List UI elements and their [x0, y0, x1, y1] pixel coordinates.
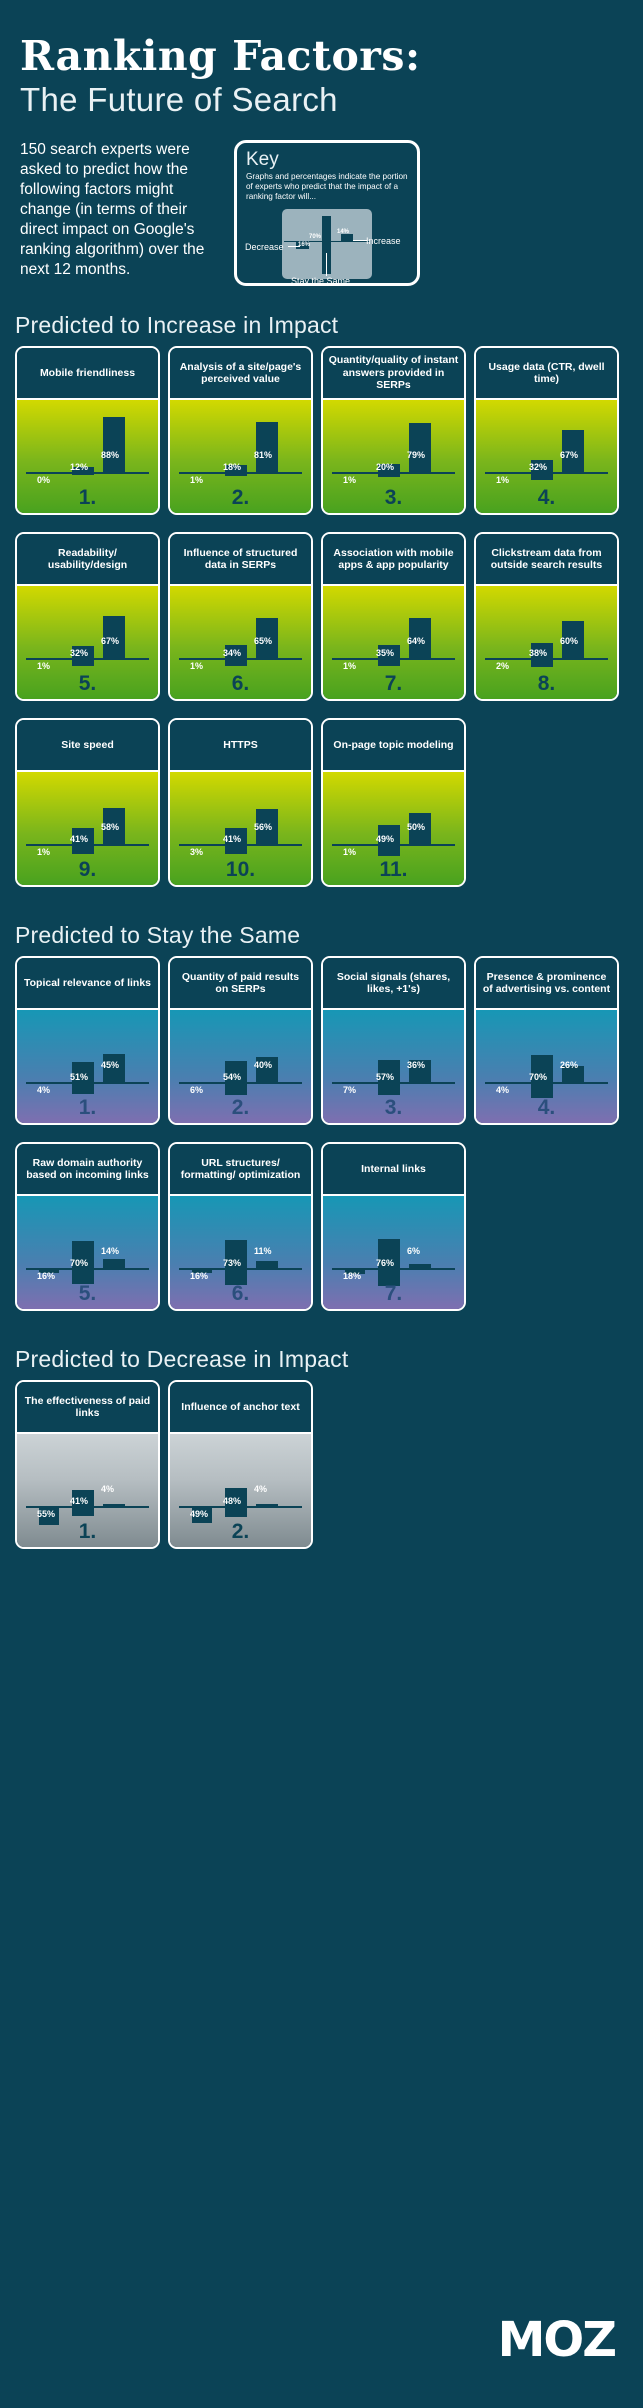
pct-same: 12%: [70, 462, 88, 472]
pct-increase: 40%: [254, 1060, 272, 1070]
pct-decrease: 0%: [37, 475, 50, 485]
pct-decrease: 6%: [190, 1085, 203, 1095]
factor-card-chart: 1%32%67%4.: [476, 398, 617, 513]
pct-increase: 81%: [254, 450, 272, 460]
pct-increase: 79%: [407, 450, 425, 460]
pct-increase: 4%: [101, 1484, 114, 1494]
pct-same: 70%: [529, 1072, 547, 1082]
header: Ranking Factors: The Future of Search 15…: [0, 0, 643, 286]
key-pct-increase: 14%: [337, 229, 349, 235]
factor-rank: 2.: [170, 486, 311, 510]
factor-card-chart: 1%49%50%11.: [323, 770, 464, 885]
pct-increase: 45%: [101, 1060, 119, 1070]
bar-decrease: [192, 472, 212, 474]
factor-rank: 5.: [17, 672, 158, 696]
factor-card-label: Site speed: [17, 720, 158, 770]
key-description: Graphs and percentages indicate the port…: [246, 172, 408, 203]
factor-card-chart: 6%54%40%2.: [170, 1008, 311, 1123]
bar-increase: [256, 1261, 278, 1268]
pct-increase: 67%: [101, 636, 119, 646]
pct-same: 32%: [70, 648, 88, 658]
key-label-decrease: Decrease: [245, 242, 284, 252]
section-heading: Predicted to Increase in Impact: [0, 312, 643, 346]
bar-increase: [409, 423, 431, 472]
infographic-page: Ranking Factors: The Future of Search 15…: [0, 0, 643, 2408]
key-label-increase: Increase: [366, 236, 401, 246]
pct-decrease: 18%: [343, 1271, 361, 1281]
factor-card-chart: 1%35%64%7.: [323, 584, 464, 699]
factor-card[interactable]: On-page topic modeling1%49%50%11.: [321, 718, 466, 887]
factor-card-chart: 16%73%11%6.: [170, 1194, 311, 1309]
factor-rank: 1.: [17, 486, 158, 510]
pct-increase: 67%: [560, 450, 578, 460]
factor-card-label: Readability/ usability/design: [17, 534, 158, 584]
pct-increase: 56%: [254, 822, 272, 832]
factor-card-label: Quantity of paid results on SERPs: [170, 958, 311, 1008]
pct-same: 41%: [223, 834, 241, 844]
section-heading: Predicted to Stay the Same: [0, 922, 643, 956]
bar-decrease: [345, 844, 365, 846]
factor-card-label: Clickstream data from outside search res…: [476, 534, 617, 584]
factor-card[interactable]: Quantity/quality of instant answers prov…: [321, 346, 466, 515]
pct-decrease: 1%: [37, 847, 50, 857]
pct-same: 57%: [376, 1072, 394, 1082]
factor-card[interactable]: Association with mobile apps & app popul…: [321, 532, 466, 701]
factor-card-chart: 2%38%60%8.: [476, 584, 617, 699]
bar-decrease: [39, 1082, 59, 1084]
pct-decrease: 1%: [343, 847, 356, 857]
bar-decrease: [192, 1082, 212, 1084]
factor-card[interactable]: Internal links18%76%6%7.: [321, 1142, 466, 1311]
factor-rank: 4.: [476, 1096, 617, 1120]
factor-card-chart: 16%70%14%5.: [17, 1194, 158, 1309]
card-grid: Topical relevance of links4%51%45%1.Quan…: [0, 956, 643, 1320]
pct-decrease: 7%: [343, 1085, 356, 1095]
pct-decrease: 1%: [496, 475, 509, 485]
pct-same: 54%: [223, 1072, 241, 1082]
factor-rank: 8.: [476, 672, 617, 696]
factor-card-label: Raw domain authority based on incoming l…: [17, 1144, 158, 1194]
pct-increase: 58%: [101, 822, 119, 832]
pct-increase: 6%: [407, 1246, 420, 1256]
factor-card-chart: 3%41%56%10.: [170, 770, 311, 885]
pct-decrease: 1%: [343, 475, 356, 485]
factor-rank: 6.: [170, 672, 311, 696]
factor-card-chart: 4%70%26%4.: [476, 1008, 617, 1123]
factor-rank: 3.: [323, 486, 464, 510]
page-subtitle: The Future of Search: [20, 80, 623, 120]
key-pct-same: 70%: [309, 234, 321, 240]
factor-card[interactable]: Raw domain authority based on incoming l…: [15, 1142, 160, 1311]
section-spacer: [0, 896, 643, 922]
factor-card-chart: 0%12%88%1.: [17, 398, 158, 513]
pct-same: 73%: [223, 1258, 241, 1268]
key-leader-line-decrease: [288, 246, 300, 247]
factor-card[interactable]: Site speed1%41%58%9.: [15, 718, 160, 887]
factor-card-label: The effectiveness of paid links: [17, 1382, 158, 1432]
factor-card-chart: 1%18%81%2.: [170, 398, 311, 513]
factor-card[interactable]: Influence of structured data in SERPs1%3…: [168, 532, 313, 701]
factor-card[interactable]: Quantity of paid results on SERPs6%54%40…: [168, 956, 313, 1125]
pct-same: 32%: [529, 462, 547, 472]
pct-decrease: 4%: [496, 1085, 509, 1095]
pct-decrease: 1%: [343, 661, 356, 671]
bar-decrease: [192, 844, 212, 846]
pct-decrease: 4%: [37, 1085, 50, 1095]
factor-card[interactable]: Influence of anchor text49%48%4%2.: [168, 1380, 313, 1549]
bar-decrease: [345, 472, 365, 474]
sections-root: Predicted to Increase in ImpactMobile fr…: [0, 312, 643, 1584]
bar-increase: [256, 1504, 278, 1506]
factor-rank: 10.: [170, 858, 311, 882]
pct-same: 41%: [70, 1496, 88, 1506]
factor-card-label: Usage data (CTR, dwell time): [476, 348, 617, 398]
pct-increase: 65%: [254, 636, 272, 646]
pct-same: 20%: [376, 462, 394, 472]
pct-same: 76%: [376, 1258, 394, 1268]
key-box: Key Graphs and percentages indicate the …: [234, 140, 420, 286]
key-leader-line-same: [326, 253, 327, 276]
factor-card-label: Internal links: [323, 1144, 464, 1194]
factor-card-label: Mobile friendliness: [17, 348, 158, 398]
factor-card-label: Influence of anchor text: [170, 1382, 311, 1432]
bar-increase: [256, 422, 278, 472]
factor-card[interactable]: Usage data (CTR, dwell time)1%32%67%4.: [474, 346, 619, 515]
pct-same: 18%: [223, 462, 241, 472]
factor-card-chart: 49%48%4%2.: [170, 1432, 311, 1547]
factor-card-label: Analysis of a site/page's perceived valu…: [170, 348, 311, 398]
pct-same: 48%: [223, 1496, 241, 1506]
key-leader-line-increase: [353, 240, 367, 241]
bar-decrease: [39, 472, 59, 474]
pct-decrease: 1%: [37, 661, 50, 671]
bar-decrease: [39, 658, 59, 660]
factor-rank: 9.: [17, 858, 158, 882]
factor-rank: 7.: [323, 672, 464, 696]
factor-card-chart: 18%76%6%7.: [323, 1194, 464, 1309]
factor-rank: 4.: [476, 486, 617, 510]
factor-card-label: Quantity/quality of instant answers prov…: [323, 348, 464, 398]
factor-rank: 2.: [170, 1096, 311, 1120]
pct-decrease: 16%: [37, 1271, 55, 1281]
factor-card-label: Social signals (shares, likes, +1's): [323, 958, 464, 1008]
pct-increase: 60%: [560, 636, 578, 646]
factor-card[interactable]: Topical relevance of links4%51%45%1.: [15, 956, 160, 1125]
factor-rank: 1.: [17, 1520, 158, 1544]
pct-increase: 88%: [101, 450, 119, 460]
pct-decrease: 3%: [190, 847, 203, 857]
intro-row: 150 search experts were asked to predict…: [20, 140, 623, 286]
key-title: Key: [246, 150, 408, 170]
factor-card-label: Presence & prominence of advertising vs.…: [476, 958, 617, 1008]
bar-decrease: [498, 1082, 518, 1084]
factor-card-chart: 4%51%45%1.: [17, 1008, 158, 1123]
factor-card[interactable]: Social signals (shares, likes, +1's)7%57…: [321, 956, 466, 1125]
pct-same: 51%: [70, 1072, 88, 1082]
card-grid: Mobile friendliness0%12%88%1.Analysis of…: [0, 346, 643, 896]
pct-increase: 50%: [407, 822, 425, 832]
factor-card[interactable]: Mobile friendliness0%12%88%1.: [15, 346, 160, 515]
pct-same: 38%: [529, 648, 547, 658]
factor-card[interactable]: The effectiveness of paid links55%41%4%1…: [15, 1380, 160, 1549]
bar-decrease: [192, 658, 212, 660]
factor-card-label: URL structures/ formatting/ optimization: [170, 1144, 311, 1194]
bar-increase: [103, 1504, 125, 1506]
pct-increase: 11%: [254, 1246, 272, 1256]
factor-card[interactable]: Analysis of a site/page's perceived valu…: [168, 346, 313, 515]
moz-logo: MOZ: [498, 2312, 615, 2368]
card-grid: The effectiveness of paid links55%41%4%1…: [0, 1380, 643, 1558]
key-label-same: Stay the Same: [291, 276, 350, 286]
factor-rank: 6.: [170, 1282, 311, 1306]
bar-decrease: [345, 658, 365, 660]
factor-card-chart: 1%41%58%9.: [17, 770, 158, 885]
pct-increase: 36%: [407, 1060, 425, 1070]
bar-decrease: [39, 844, 59, 846]
section-heading: Predicted to Decrease in Impact: [0, 1346, 643, 1380]
factor-card-label: HTTPS: [170, 720, 311, 770]
bar-decrease: [498, 472, 518, 474]
factor-card[interactable]: Clickstream data from outside search res…: [474, 532, 619, 701]
factor-rank: 11.: [323, 858, 464, 882]
factor-card-chart: 1%34%65%6.: [170, 584, 311, 699]
pct-decrease: 55%: [37, 1509, 55, 1519]
factor-rank: 7.: [323, 1282, 464, 1306]
pct-same: 34%: [223, 648, 241, 658]
pct-increase: 26%: [560, 1060, 578, 1070]
factor-rank: 3.: [323, 1096, 464, 1120]
factor-card-label: Influence of structured data in SERPs: [170, 534, 311, 584]
bar-decrease: [498, 658, 518, 660]
factor-card[interactable]: URL structures/ formatting/ optimization…: [168, 1142, 313, 1311]
pct-same: 49%: [376, 834, 394, 844]
factor-card-chart: 55%41%4%1.: [17, 1432, 158, 1547]
bar-increase: [103, 417, 125, 472]
factor-card-chart: 1%32%67%5.: [17, 584, 158, 699]
bar-increase: [103, 1259, 125, 1268]
pct-increase: 14%: [101, 1246, 119, 1256]
factor-card-label: Topical relevance of links: [17, 958, 158, 1008]
factor-card-chart: 1%20%79%3.: [323, 398, 464, 513]
pct-same: 70%: [70, 1258, 88, 1268]
section-spacer: [0, 1558, 643, 1584]
factor-card-label: On-page topic modeling: [323, 720, 464, 770]
section-spacer: [0, 1320, 643, 1346]
factor-card[interactable]: Presence & prominence of advertising vs.…: [474, 956, 619, 1125]
factor-card-label: Association with mobile apps & app popul…: [323, 534, 464, 584]
page-title: Ranking Factors:: [20, 34, 623, 78]
pct-decrease: 1%: [190, 475, 203, 485]
pct-increase: 4%: [254, 1484, 267, 1494]
key-bar-increase: [341, 234, 353, 241]
pct-decrease: 2%: [496, 661, 509, 671]
pct-increase: 64%: [407, 636, 425, 646]
pct-decrease: 16%: [190, 1271, 208, 1281]
factor-card[interactable]: Readability/ usability/design1%32%67%5.: [15, 532, 160, 701]
factor-rank: 2.: [170, 1520, 311, 1544]
factor-card-chart: 7%57%36%3.: [323, 1008, 464, 1123]
intro-paragraph: 150 search experts were asked to predict…: [20, 140, 220, 286]
factor-rank: 1.: [17, 1096, 158, 1120]
pct-same: 41%: [70, 834, 88, 844]
pct-same: 35%: [376, 648, 394, 658]
factor-rank: 5.: [17, 1282, 158, 1306]
bar-increase: [409, 1264, 431, 1268]
pct-decrease: 49%: [190, 1509, 208, 1519]
factor-card[interactable]: HTTPS3%41%56%10.: [168, 718, 313, 887]
pct-decrease: 1%: [190, 661, 203, 671]
